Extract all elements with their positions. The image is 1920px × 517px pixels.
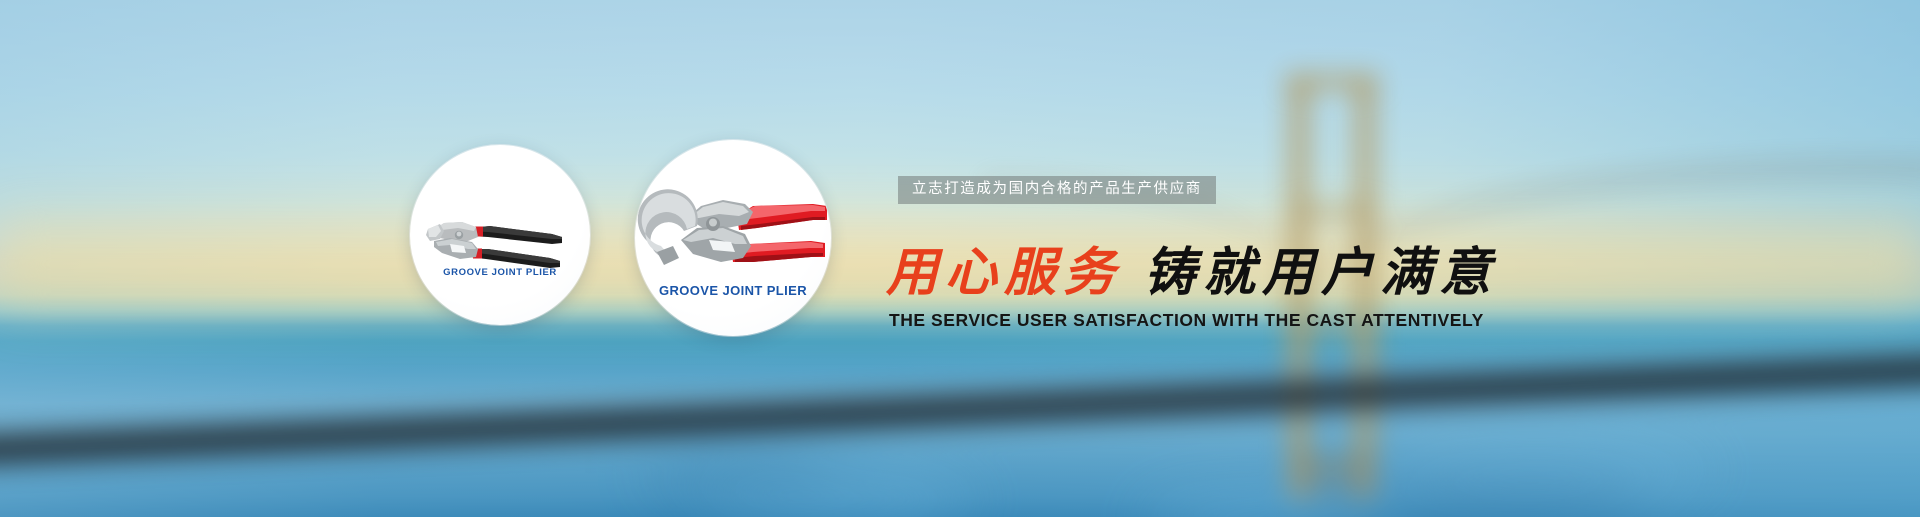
- groove-joint-plier-red-icon: [635, 140, 831, 336]
- product-circle-1[interactable]: GROOVE JOINT PLIER: [410, 145, 590, 325]
- subheadline: THE SERVICE USER SATISFACTION WITH THE C…: [889, 310, 1484, 331]
- product-label: GROOVE JOINT PLIER: [635, 283, 831, 298]
- product-circle-2[interactable]: GROOVE JOINT PLIER: [635, 140, 831, 336]
- tagline-bar: 立志打造成为国内合格的产品生产供应商: [898, 176, 1216, 204]
- groove-joint-plier-black-icon: [410, 145, 590, 325]
- promo-banner: GROOVE JOINT PLIER: [0, 0, 1920, 517]
- bridge-tower-brace-upper: [1288, 205, 1378, 218]
- headline-black-text: 铸就用户满意: [1144, 242, 1498, 303]
- sea-shadow: [640, 460, 840, 490]
- headline: 用心服务铸就用户满意: [886, 247, 1498, 299]
- bridge-tower-cap: [1286, 74, 1378, 90]
- product-label: GROOVE JOINT PLIER: [410, 267, 590, 278]
- headline-red-text: 用心服务: [886, 242, 1122, 303]
